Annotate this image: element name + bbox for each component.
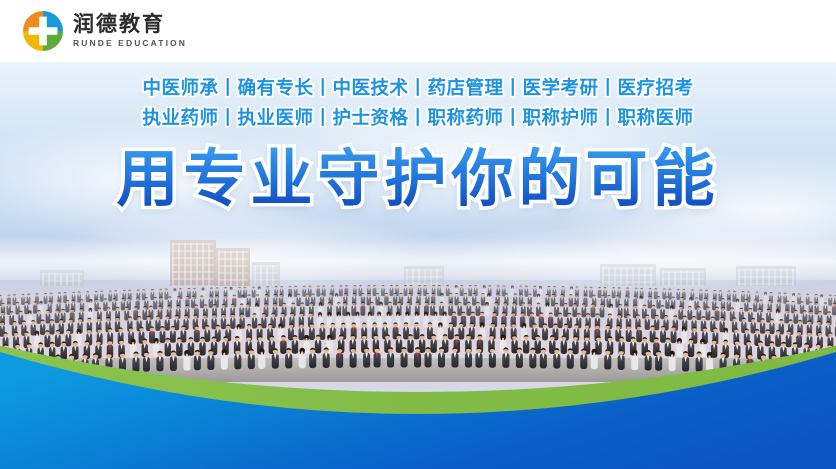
banner-copy: 中医师承丨确有专长丨中医技术丨药店管理丨医学考研丨医疗招考 执业药师丨执业医师丨…	[0, 62, 836, 210]
brand-logo[interactable]: 润德教育 RUNDE EDUCATION	[22, 10, 187, 52]
tagline-list: 中医师承丨确有专长丨中医技术丨药店管理丨医学考研丨医疗招考 执业药师丨执业医师丨…	[0, 74, 836, 134]
tagline-row-2: 执业药师丨执业医师丨护士资格丨职称药师丨职称护师丨职称医师	[0, 104, 836, 134]
header-bar: 润德教育 RUNDE EDUCATION	[0, 0, 836, 62]
headline-fill-layer: 用专业守护你的可能	[116, 142, 719, 215]
promotional-banner: 润德教育 RUNDE EDUCATION 中医师承丨确有专长丨中医技术丨药店管理…	[0, 0, 836, 469]
tagline-row-1: 中医师承丨确有专长丨中医技术丨药店管理丨医学考研丨医疗招考	[0, 74, 836, 104]
headline-slogan: 用专业守护你的可能 用专业守护你的可能	[116, 148, 719, 210]
logo-icon	[22, 10, 64, 52]
blue-wave-footer	[0, 300, 836, 469]
brand-name-en: RUNDE EDUCATION	[73, 39, 187, 48]
four-quadrant-cross-circle-logo	[22, 10, 64, 52]
brand-name-cn: 润德教育	[73, 14, 187, 35]
